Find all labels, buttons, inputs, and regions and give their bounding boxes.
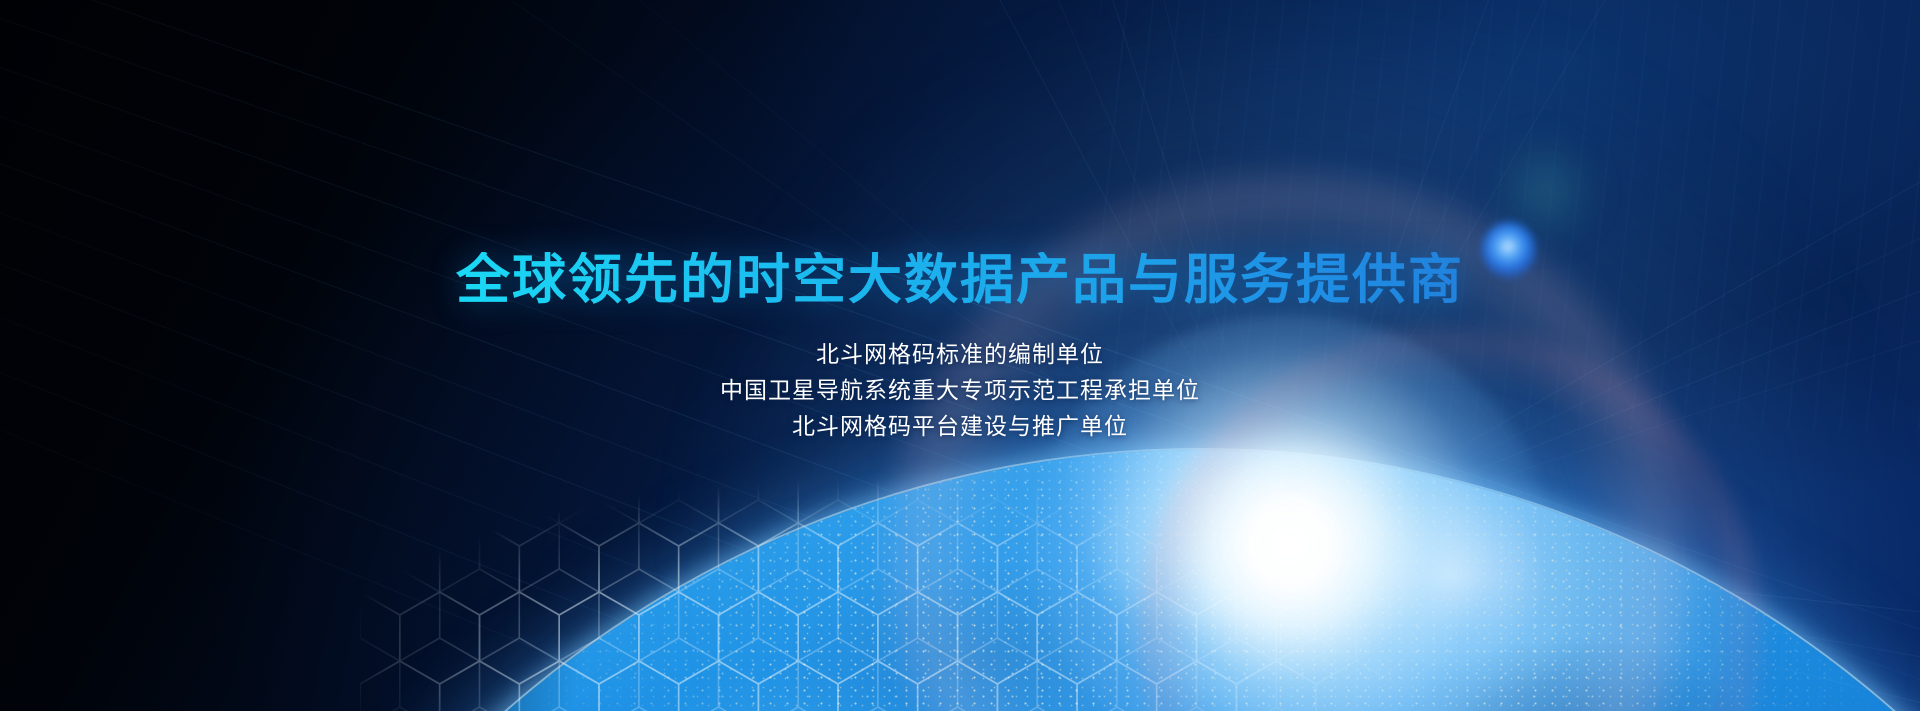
banner-content: 全球领先的时空大数据产品与服务提供商 北斗网格码标准的编制单位 中国卫星导航系统… bbox=[0, 0, 1920, 711]
page-title: 全球领先的时空大数据产品与服务提供商 bbox=[456, 252, 1464, 309]
subtitle-line-3: 北斗网格码平台建设与推广单位 bbox=[792, 411, 1128, 441]
subtitle-line-1: 北斗网格码标准的编制单位 bbox=[816, 339, 1104, 369]
hero-banner: 全球领先的时空大数据产品与服务提供商 北斗网格码标准的编制单位 中国卫星导航系统… bbox=[0, 0, 1920, 711]
subtitle-line-2: 中国卫星导航系统重大专项示范工程承担单位 bbox=[720, 375, 1200, 405]
subtitle-list: 北斗网格码标准的编制单位 中国卫星导航系统重大专项示范工程承担单位 北斗网格码平… bbox=[720, 339, 1200, 442]
